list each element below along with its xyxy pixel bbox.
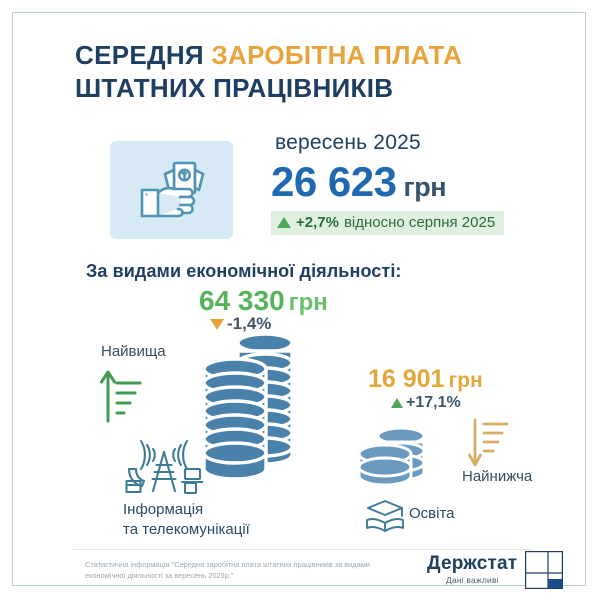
infographic-card: СЕРЕДНЯ ЗАРОБІТНА ПЛАТА ШТАТНИХ ПРАЦІВНИ… — [12, 12, 586, 586]
status-badge: +2,7% відносно серпня 2025 — [271, 211, 504, 235]
highest-value-unit: грн — [289, 289, 328, 316]
hero-value: 26 623грн — [271, 158, 446, 206]
triangle-down-icon — [210, 319, 224, 330]
coin-stack-tall-icon — [198, 331, 306, 488]
hero-period-label: вересень 2025 — [275, 131, 421, 155]
lowest-change-value: +17,1% — [406, 394, 461, 412]
lowest-rank-label: Найнижча — [462, 468, 532, 485]
title-line2: ШТАТНИХ ПРАЦІВНИКІВ — [75, 73, 393, 103]
hero-change-text: відносно серпня 2025 — [344, 214, 495, 231]
graduation-cap-book-icon — [365, 498, 405, 539]
highest-category-line2: та телекомунікації — [123, 521, 250, 538]
title-line1-part1: СЕРЕДНЯ — [75, 40, 211, 70]
highest-rank-label: Найвища — [101, 343, 166, 360]
title-line1-part2: ЗАРОБІТНА ПЛАТА — [211, 40, 462, 70]
hero-change-value: +2,7% — [296, 214, 339, 231]
derzhstat-grid-logo-icon — [525, 551, 563, 594]
highest-value: 64 330грн — [199, 285, 328, 317]
page-title: СЕРЕДНЯ ЗАРОБІТНА ПЛАТА ШТАТНИХ ПРАЦІВНИ… — [75, 39, 555, 106]
footer-note: Статистична інформація "Середня заробітн… — [85, 559, 385, 582]
lowest-value-unit: грн — [448, 369, 482, 392]
coin-stack-short-icon — [354, 425, 432, 496]
lowest-change: +17,1% — [391, 394, 461, 412]
brand-name: Держстат — [427, 553, 517, 575]
highest-value-number: 64 330 — [199, 285, 285, 316]
hero-value-unit: грн — [403, 172, 446, 202]
triangle-up-icon — [391, 398, 403, 408]
arrow-down-bars-icon — [468, 418, 510, 475]
arrow-up-bars-icon — [99, 365, 145, 428]
brand-tagline: Дані важливі — [446, 575, 499, 585]
footer-note-line1: Статистична інформація "Середня заробітн… — [85, 560, 333, 569]
footer-divider — [73, 549, 533, 550]
section-heading: За видами економічної діяльності: — [86, 261, 402, 282]
triangle-up-icon — [277, 217, 291, 228]
hero-value-number: 26 623 — [271, 158, 396, 205]
lowest-value-number: 16 901 — [368, 365, 444, 393]
lowest-value: 16 901грн — [368, 365, 483, 394]
highest-category-label: Інформація та телекомунікації — [123, 500, 333, 541]
lowest-category-label: Освіта — [409, 505, 455, 522]
highest-category-line1: Інформація — [123, 501, 203, 518]
hand-holding-money-icon — [110, 141, 233, 239]
telecom-tower-icon — [125, 439, 203, 500]
